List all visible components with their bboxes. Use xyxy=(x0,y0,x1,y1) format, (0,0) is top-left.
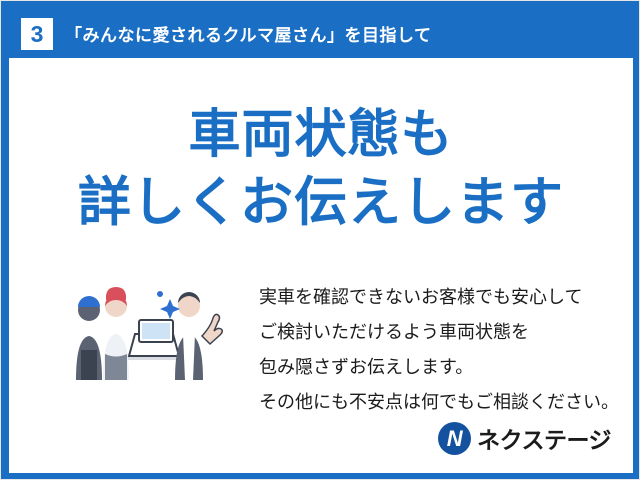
headline-line-1: 車両状態も xyxy=(188,106,453,164)
nexstage-logo-icon: N xyxy=(438,422,471,455)
body-line-1: 実車を確認できないお客様でも安心して xyxy=(259,280,623,315)
frame-border-top xyxy=(1,1,640,9)
brand-name: ネクステージ xyxy=(477,421,611,455)
advertisement-page: 3 「みんなに愛されるクルマ屋さん」を目指して 車両状態も 詳しくお伝えします xyxy=(0,0,640,480)
header-banner: 3 「みんなに愛されるクルマ屋さん」を目指して xyxy=(9,9,633,58)
logo-mark-letter: N xyxy=(438,422,471,455)
brand-logo: N ネクステージ xyxy=(438,421,611,455)
body-line-3: 包み隠さずお伝えします。 xyxy=(259,350,623,385)
section-number-badge: 3 xyxy=(21,18,53,50)
content-area: 車両状態も 詳しくお伝えします xyxy=(9,58,633,473)
headline: 車両状態も 詳しくお伝えします xyxy=(9,102,633,236)
body-paragraph: 実車を確認できないお客様でも安心して ご検討いただけるよう車両状態を 包み隠さず… xyxy=(259,280,623,420)
header-title: 「みんなに愛されるクルマ屋さん」を目指して xyxy=(65,21,431,46)
staff-and-customers-at-desk-illustration xyxy=(61,276,251,386)
headline-line-2: 詳しくお伝えします xyxy=(9,169,633,237)
frame-border-left xyxy=(1,1,9,480)
body-line-2: ご検討いただけるよう車両状態を xyxy=(259,315,623,350)
body-line-4: その他にも不安点は何でもご相談ください。 xyxy=(259,385,623,420)
